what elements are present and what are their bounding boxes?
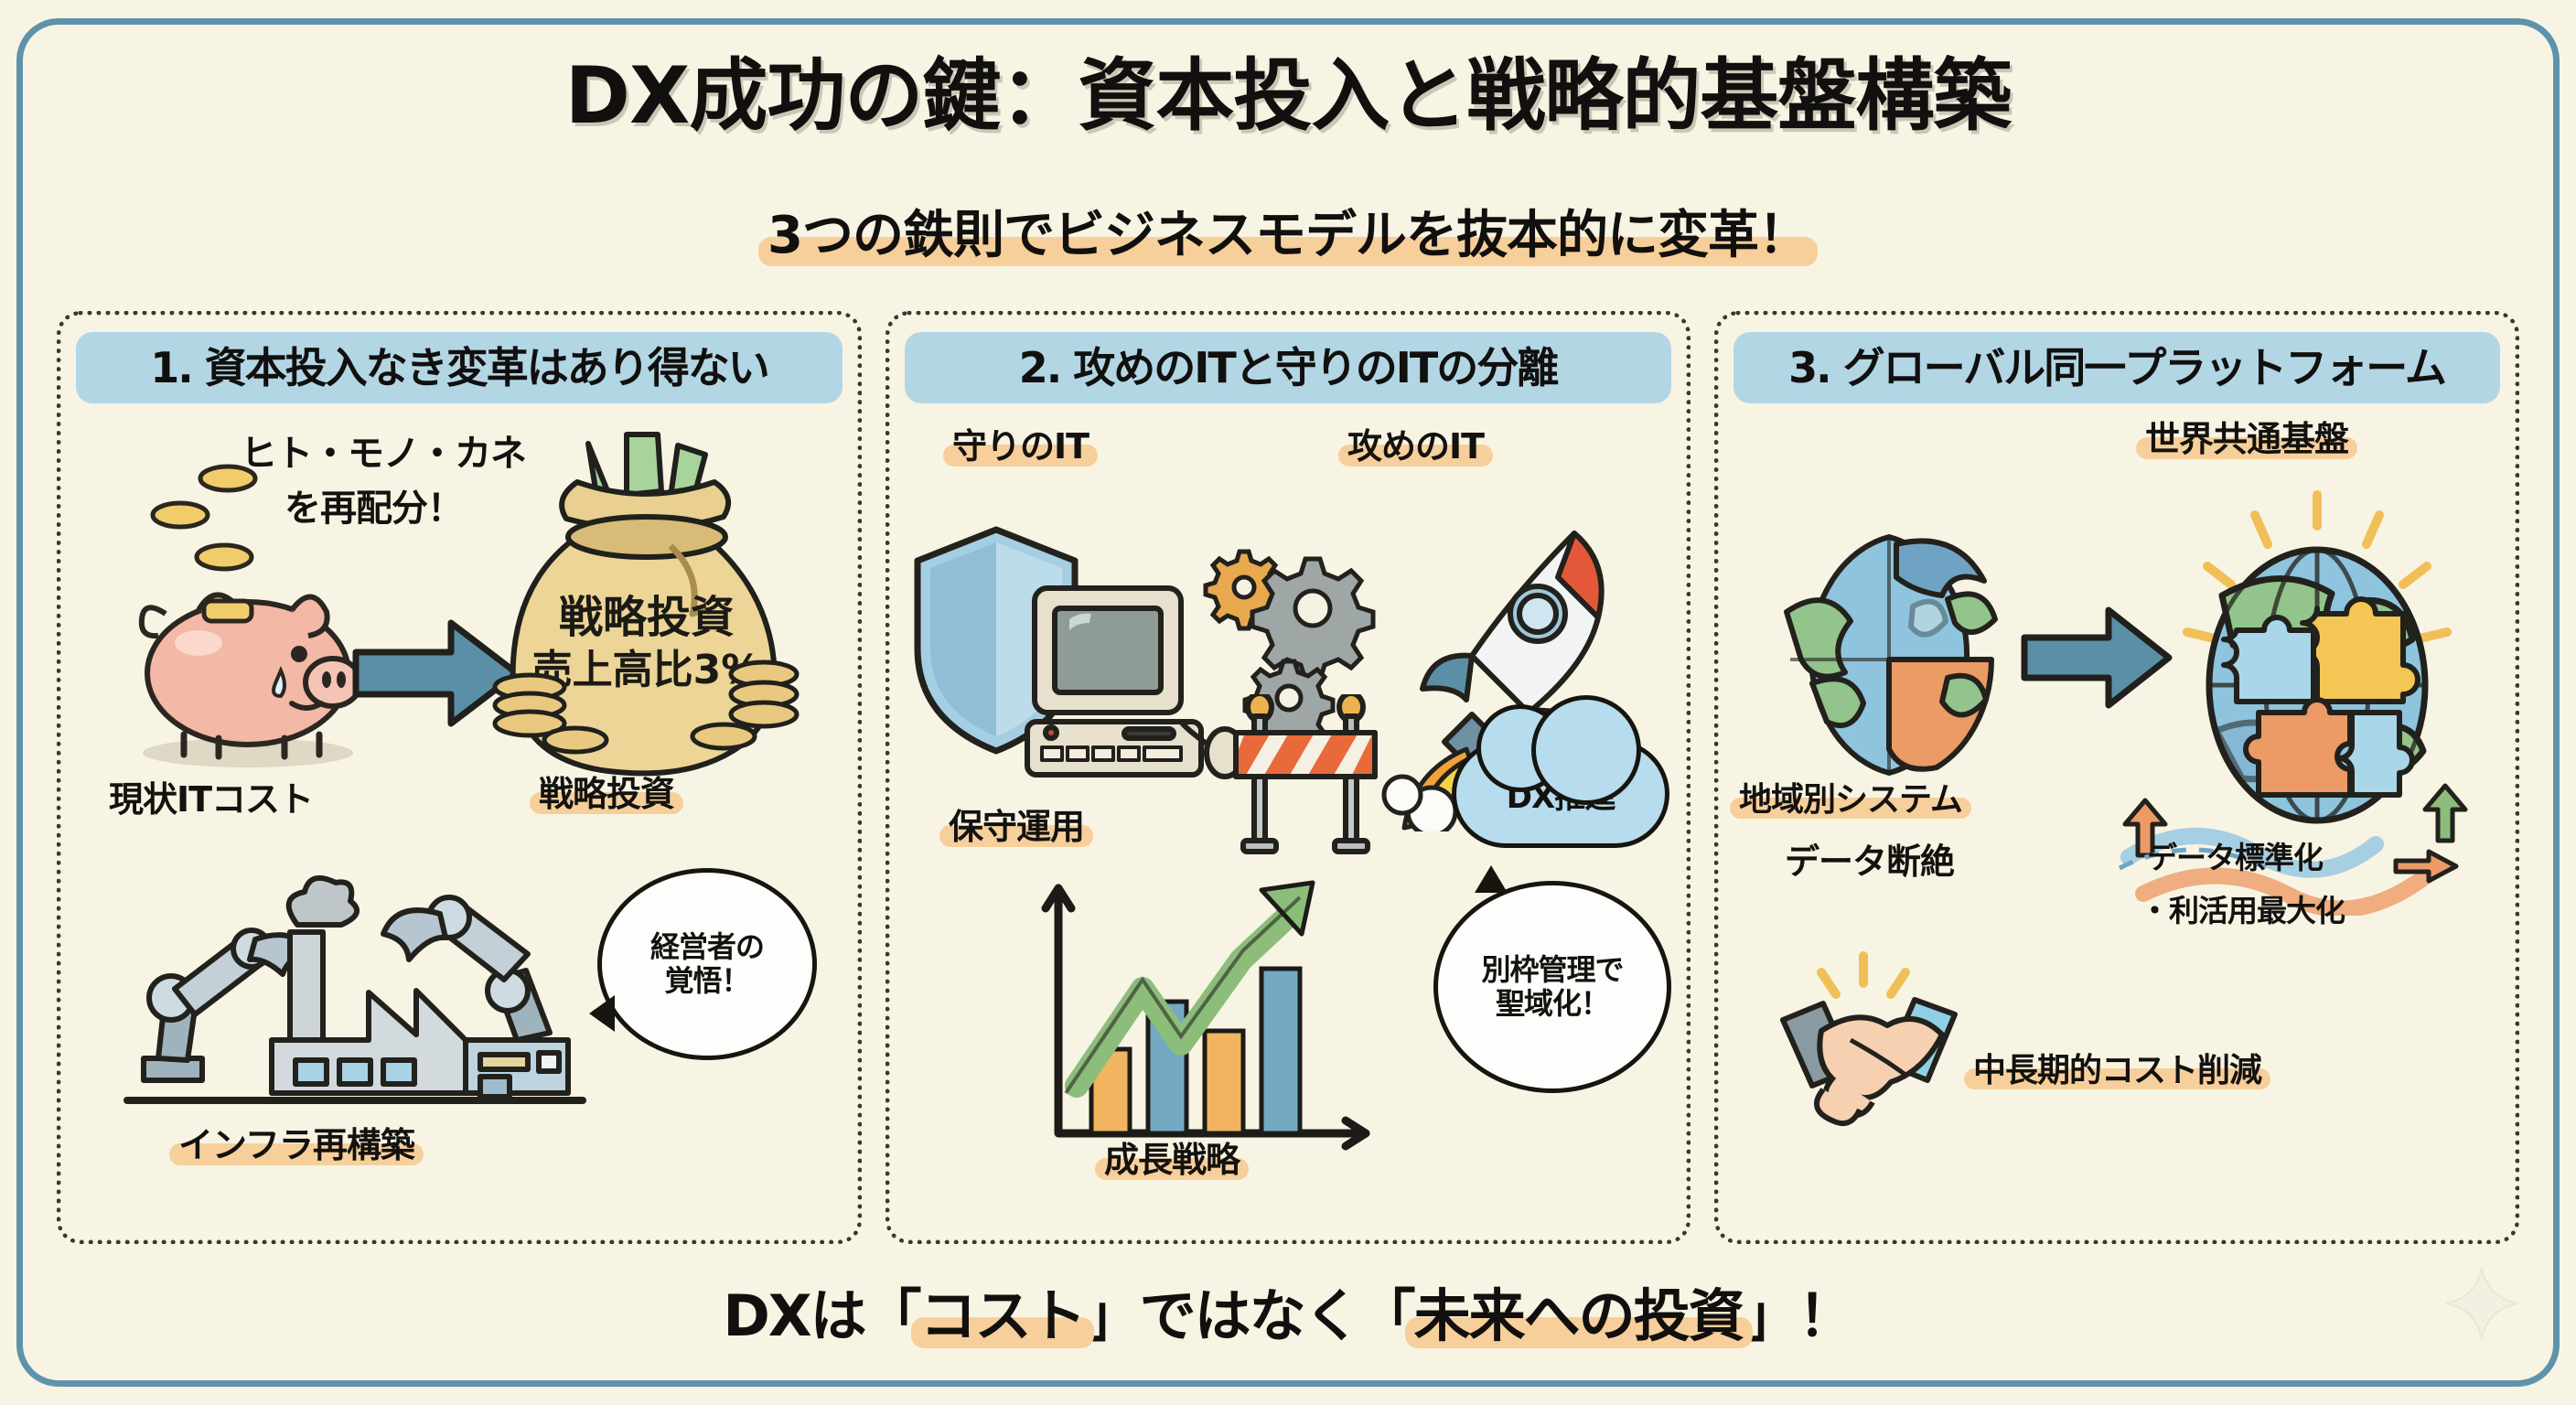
reallocate-label-line2: を再配分！: [284, 478, 463, 531]
infrastructure-label: インフラ再構築: [178, 1117, 414, 1167]
maintenance-label: 保守運用: [949, 799, 1084, 849]
standardize-line1: データ標準化: [2147, 833, 2323, 877]
footer-highlight-investment: 未来への投資: [1414, 1270, 1744, 1352]
standardize-line2: ・利活用最大化: [2140, 886, 2345, 930]
money-bag-text-1: 戦略投資: [559, 592, 735, 643]
panel-capital-investment[interactable]: 1. 資本投入なき変革はあり得ない ヒト・モノ・カネ を再配分！: [57, 311, 862, 1244]
panel-2-header: 2. 攻めのITと守りのITの分離: [905, 332, 1671, 403]
page-title: DX成功の鍵：資本投入と戦略的基盤構築: [0, 31, 2576, 145]
data-break-label: データ断絶: [1785, 833, 1954, 884]
panel-1-header: 1. 資本投入なき変革はあり得ない: [76, 332, 843, 403]
page-subtitle: 3つの鉄則でビジネスモデルを抜本的に変革！: [767, 194, 1809, 268]
road-barrier-icon: [1227, 694, 1401, 877]
cost-reduction-label: 中長期的コスト削減: [1973, 1044, 2261, 1091]
bubble-2-line2: 聖域化！: [1481, 987, 1623, 1021]
growth-strategy-label: 成長戦略: [1104, 1132, 1240, 1182]
speech-bubble-management: 経営者の 覚悟！: [597, 868, 817, 1060]
fragmented-globe-icon: [1759, 504, 2024, 778]
global-base-label: 世界共通基盤: [2145, 411, 2348, 461]
bubble-1-line2: 覚悟！: [650, 964, 764, 998]
footer-part-3: 」！: [1744, 1282, 1853, 1349]
footer-highlight-cost: コスト: [920, 1270, 1085, 1352]
subtitle-container: 3つの鉄則でビジネスモデルを抜本的に変革！: [0, 194, 2576, 268]
sparkle-icon: [2441, 1262, 2523, 1345]
panel-3-body: 世界共通基盤 地域別システム デー: [1733, 403, 2500, 1208]
cloud-label: DX推進: [1507, 772, 1615, 817]
dx-promotion-cloud: DX推進: [1452, 740, 1669, 848]
money-bag-label: 戦略投資: [539, 766, 674, 816]
defense-it-label: 守りのIT: [952, 418, 1089, 468]
speech-bubble-sanctuary: 別枠管理で 聖域化！: [1433, 881, 1671, 1093]
money-bag-icon: 戦略投資 売上高比3%: [489, 429, 800, 786]
piggy-bank-icon: [111, 559, 385, 769]
piggy-bank-label: 現状ITコスト: [109, 771, 313, 821]
growth-chart-icon: [1025, 870, 1410, 1172]
regional-system-label: 地域別システム: [1739, 773, 1962, 820]
factory-robots-icon: [116, 861, 628, 1135]
bubble-2-line1: 別枠管理で: [1481, 953, 1623, 987]
panel-row: 1. 資本投入なき変革はあり得ない ヒト・モノ・カネ を再配分！: [57, 311, 2519, 1244]
footer-part-2: 」ではなく「: [1085, 1282, 1414, 1349]
panel-2-body: 守りのIT 攻めのIT: [905, 403, 1671, 1208]
panel-global-platform[interactable]: 3. グローバル同一プラットフォーム 世界共通基盤: [1714, 311, 2519, 1244]
footer-part-1: DXは「: [723, 1282, 919, 1349]
bubble-1-line1: 経営者の: [650, 930, 764, 964]
panel-3-header: 3. グローバル同一プラットフォーム: [1733, 332, 2500, 403]
panel-1-body: ヒト・モノ・カネ を再配分！: [76, 403, 843, 1208]
reallocate-label-line1: ヒト・モノ・カネ: [241, 424, 526, 477]
footer-message: DXは「コスト」ではなく「未来への投資」！: [0, 1270, 2576, 1352]
offense-it-label: 攻めのIT: [1347, 418, 1484, 468]
panel-it-separation[interactable]: 2. 攻めのITと守りのITの分離 守りのIT 攻めのIT: [885, 311, 1690, 1244]
